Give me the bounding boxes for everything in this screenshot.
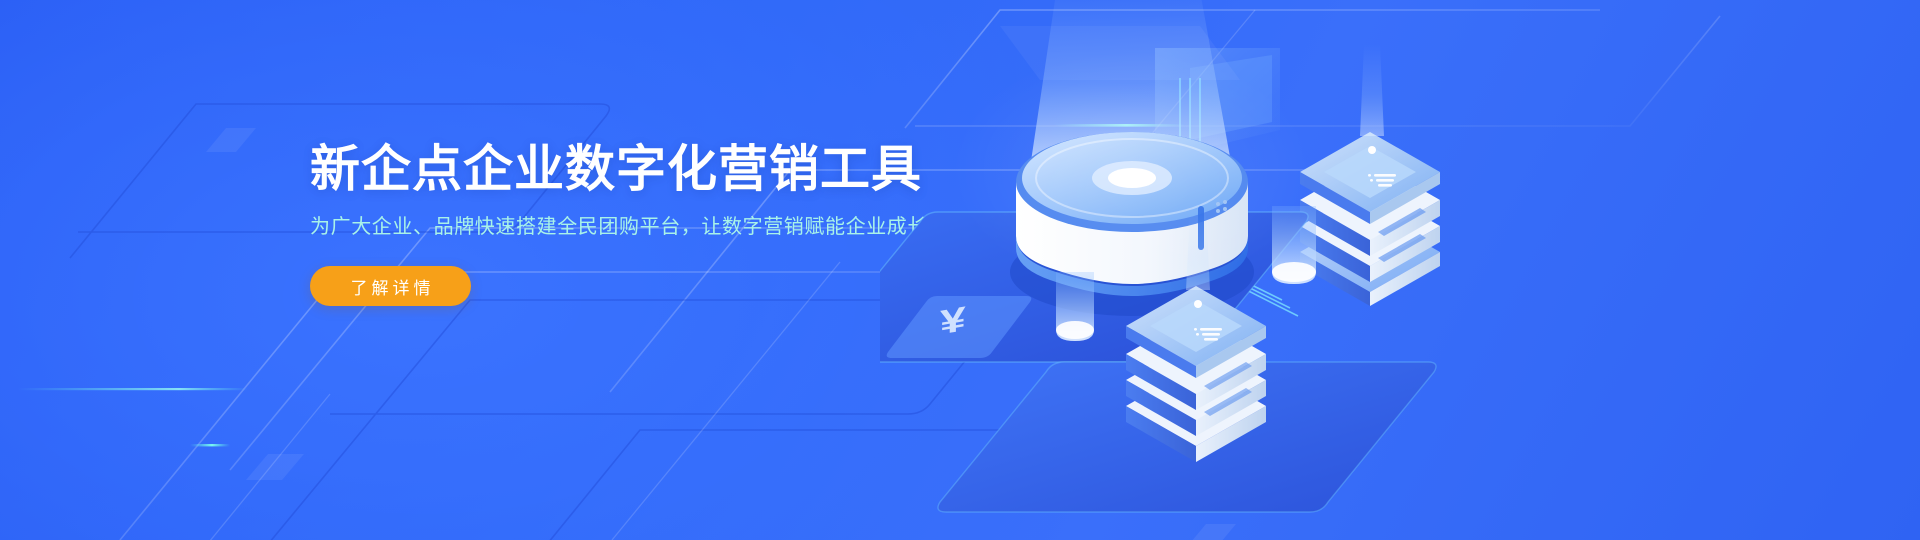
isometric-illustration: ¥ bbox=[880, 0, 1920, 540]
hero-banner: 新企点企业数字化营销工具 为广大企业、品牌快速搭建全民团购平台，让数字营销赋能企… bbox=[0, 0, 1920, 540]
device-halo bbox=[952, 50, 1312, 290]
svg-text:¥: ¥ bbox=[940, 299, 966, 342]
yuan-glyph: ¥ bbox=[940, 299, 966, 342]
server-stack-upper bbox=[1300, 44, 1440, 306]
server-light-beam bbox=[1360, 44, 1384, 136]
learn-more-button[interactable]: 了解详情 bbox=[310, 266, 471, 306]
